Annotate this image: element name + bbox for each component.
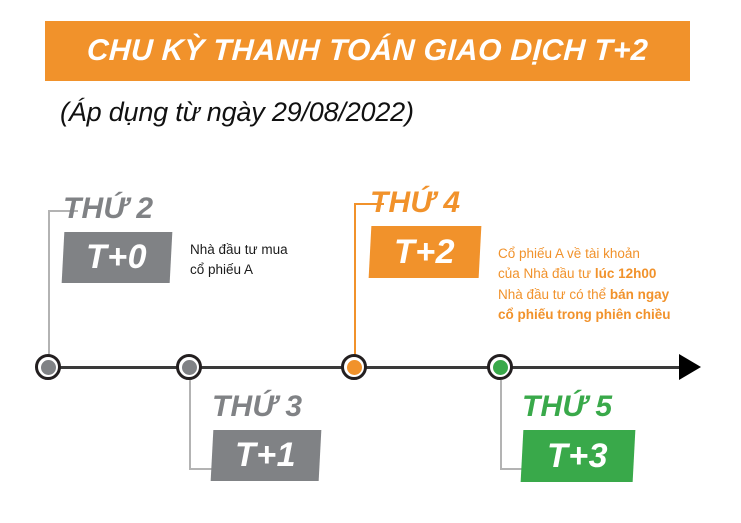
page-title: CHU KỲ THANH TOÁN GIAO DỊCH T+2 (43, 21, 691, 81)
dot-fill-t0 (41, 360, 56, 375)
badge-t3: T+3 (521, 430, 636, 482)
day-label-t2: THỨ 4 (369, 188, 481, 218)
node-group-t0: THỨ 2 T+0 (63, 194, 171, 283)
day-label-t0: THỨ 2 (62, 194, 172, 224)
timeline-dot-t1[interactable] (176, 354, 202, 380)
description-t2: Cổ phiếu A về tài khoản của Nhà đầu tư l… (498, 244, 671, 325)
day-label-t3: THỨ 5 (521, 392, 635, 422)
day-label-t1: THỨ 3 (211, 392, 321, 422)
description-line: cổ phiếu trong phiên chiều (498, 305, 671, 325)
description-line: Nhà đầu tư có thể bán ngay (498, 285, 671, 305)
description-line: Cổ phiếu A về tài khoản (498, 244, 671, 264)
description-line: cổ phiếu A (190, 260, 288, 280)
node-group-t3: THỨ 5 T+3 (522, 392, 634, 482)
page-subtitle: (Áp dụng từ ngày 29/08/2022) (60, 97, 414, 128)
badge-t0: T+0 (62, 232, 173, 283)
dot-fill-t3 (493, 360, 508, 375)
node-group-t1: THỨ 3 T+1 (212, 392, 320, 481)
arrow-right-icon (679, 354, 701, 380)
description-t0: Nhà đầu tư mua cổ phiếu A (190, 240, 288, 279)
timeline-dot-t0[interactable] (35, 354, 61, 380)
timeline-axis (48, 366, 693, 369)
node-group-t2: THỨ 4 T+2 (370, 188, 480, 278)
header-banner: CHU KỲ THANH TOÁN GIAO DỊCH T+2 (45, 21, 690, 81)
infographic-canvas: CHU KỲ THANH TOÁN GIAO DỊCH T+2 (Áp dụng… (0, 0, 741, 523)
dot-fill-t2 (347, 360, 362, 375)
badge-t2: T+2 (369, 226, 482, 278)
dot-fill-t1 (182, 360, 197, 375)
timeline-dot-t2[interactable] (341, 354, 367, 380)
description-line: Nhà đầu tư mua (190, 240, 288, 260)
timeline-dot-t3[interactable] (487, 354, 513, 380)
description-line: của Nhà đầu tư lúc 12h00 (498, 264, 671, 284)
badge-t1: T+1 (211, 430, 322, 481)
